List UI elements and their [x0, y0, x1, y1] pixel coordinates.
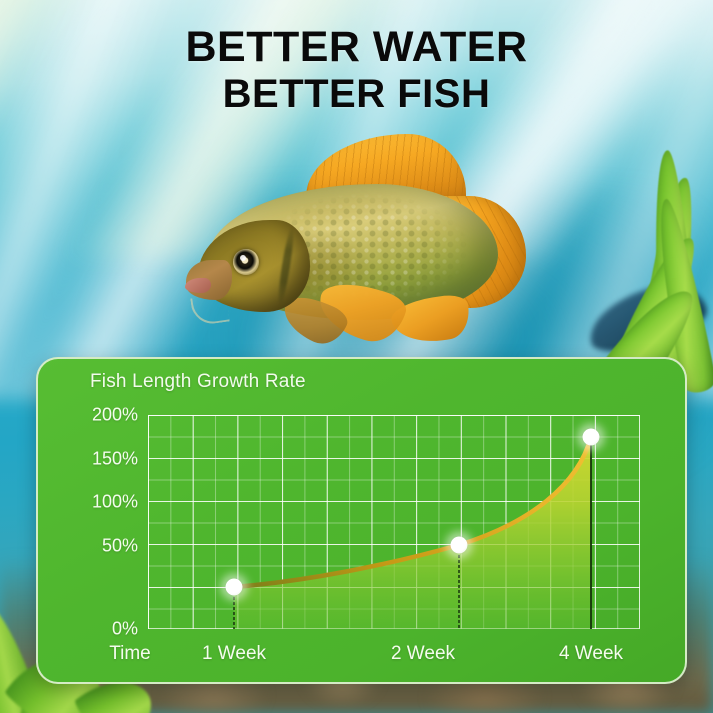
- poster-canvas: BETTER WATER BETTER FISH Fish Length Gro…: [0, 0, 713, 713]
- fish-eye: [233, 249, 259, 275]
- y-tick-label-50: 50%: [102, 535, 138, 556]
- carp-fish-illustration: [186, 128, 516, 358]
- x-axis-labels: Time 1 Week 2 Week 4 Week: [38, 643, 685, 669]
- y-tick-label-100: 100%: [92, 492, 138, 513]
- growth-curve-svg: [148, 415, 640, 629]
- y-tick-label-150: 150%: [92, 448, 138, 469]
- data-point-4-week[interactable]: [582, 429, 599, 446]
- fish-lip: [185, 278, 211, 293]
- data-point-2-week[interactable]: [450, 536, 467, 553]
- x-tick-label-1-week: 1 Week: [202, 643, 266, 665]
- y-tick-label-0: 0%: [112, 619, 138, 640]
- x-axis-title: Time: [109, 643, 151, 665]
- y-tick-label-200: 200%: [92, 405, 138, 426]
- chart-title: Fish Length Growth Rate: [90, 371, 306, 393]
- area-fill: [234, 437, 591, 629]
- y-axis-labels: 200% 150% 100% 50% 0%: [52, 415, 138, 629]
- data-point-1-week[interactable]: [226, 579, 243, 596]
- growth-chart-panel: Fish Length Growth Rate 200% 150% 100% 5…: [36, 357, 687, 684]
- plot-area: [148, 415, 640, 629]
- x-tick-label-2-week: 2 Week: [391, 643, 455, 665]
- barbel-whisker: [190, 294, 230, 327]
- x-tick-label-4-week: 4 Week: [559, 643, 623, 665]
